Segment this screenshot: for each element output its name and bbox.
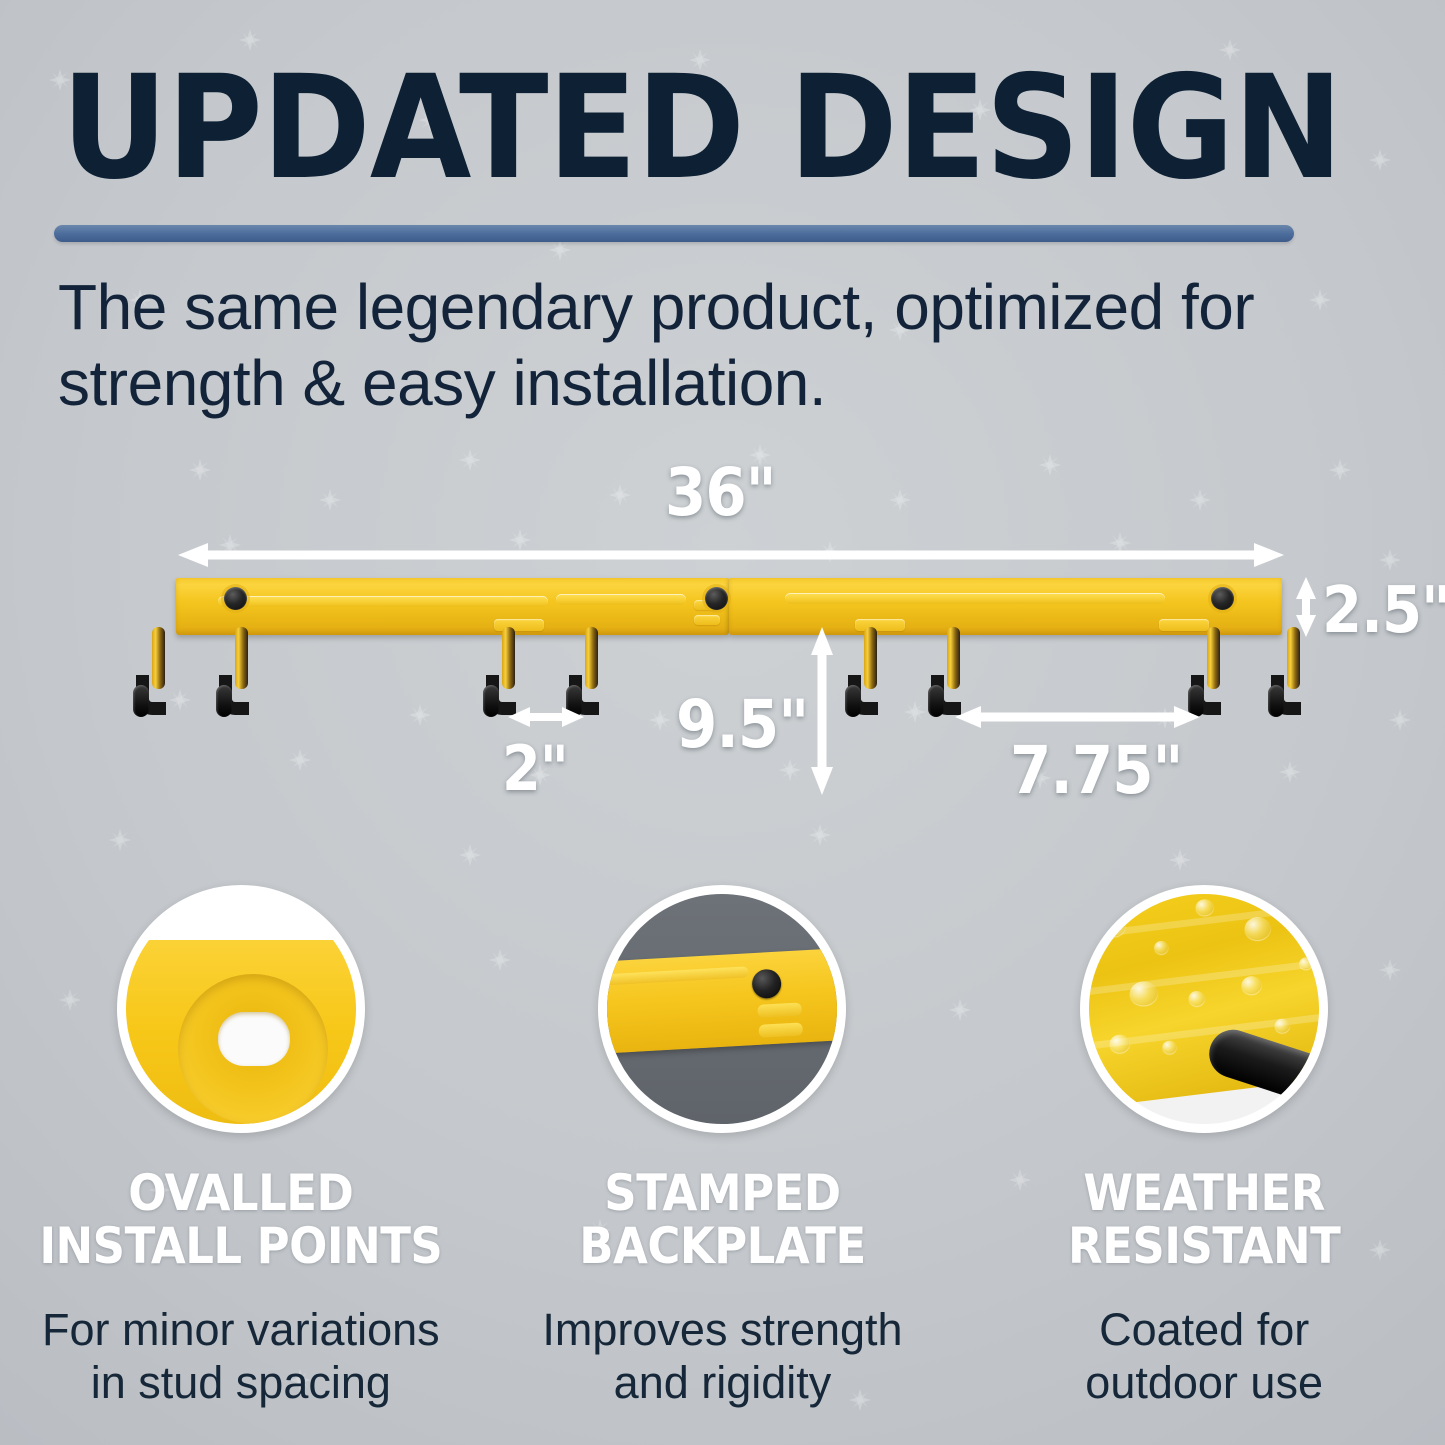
dimension-label-hook-drop: 9.5" [676,686,808,763]
hook-rubber-tip [845,685,861,717]
feature-desc-line-1: For minor variations [42,1303,440,1356]
water-drop [1299,957,1313,970]
backplate-stamp [758,1002,803,1017]
hook-rubber-tip [928,685,944,717]
feature-desc-line-1: Improves strength [542,1303,902,1356]
feature-title: WEATHER RESISTANT [1068,1167,1340,1273]
feature-desc-line-2: in stud spacing [42,1356,440,1409]
dimension-label-backplate-height: 2.5" [1322,574,1445,648]
feature-description: For minor variations in stud spacing [42,1303,440,1409]
accent-divider [54,225,1294,242]
backplate-stamp [759,1022,804,1037]
oval-slot-hole [218,1012,290,1066]
water-drop [1162,1040,1177,1055]
rack-hook [133,627,173,722]
dimension-arrow-backplate-height [1293,577,1319,637]
feature-title: OVALLED INSTALL POINTS [39,1167,442,1273]
page-title: UPDATED DESIGN [0,0,1445,199]
mounting-screw-left [224,587,247,610]
page-subtitle: The same legendary product, optimized fo… [58,270,1358,421]
feature-title-line-2: RESISTANT [1068,1220,1340,1273]
dimension-arrow-hook-group-spacing [955,704,1200,730]
rack-stamped-ridge [785,593,1165,604]
feature-title-line-1: STAMPED [579,1167,865,1220]
rack-hook [216,627,256,722]
hook-rubber-tip [1268,685,1284,717]
feature-title-line-1: WEATHER [1068,1167,1340,1220]
surface-stripe [1080,954,1328,998]
water-drop [1243,916,1272,942]
mounting-screw-center [705,587,728,610]
water-drop [1188,990,1206,1007]
hook-rubber-tip [133,685,149,717]
hook-rubber-tip [483,685,499,717]
dimension-label-hook-pair-spacing: 2" [502,732,568,805]
feature-description: Improves strength and rigidity [542,1303,902,1409]
feature-desc-line-2: and rigidity [542,1356,902,1409]
water-droplet-icon [1080,885,1328,1133]
product-diagram: 36" [0,432,1445,862]
rack-hook [1268,627,1308,722]
backplate-screw [752,969,783,1000]
ovalled-slot-icon [117,885,365,1133]
rack-stamp-dimple [694,615,720,625]
hook-rubber-tip [216,685,232,717]
backplate-bar [598,946,846,1055]
feature-desc-line-2: outdoor use [1085,1356,1323,1409]
feature-weather-resistant: WEATHER RESISTANT Coated for outdoor use [969,885,1439,1409]
rack-stamped-ridge [218,596,548,607]
feature-title: STAMPED BACKPLATE [579,1167,865,1273]
feature-ovalled-install-points: OVALLED INSTALL POINTS For minor variati… [6,885,476,1409]
feature-desc-line-1: Coated for [1085,1303,1323,1356]
feature-title-line-1: OVALLED [39,1167,442,1220]
dimension-arrow-overall-length [178,542,1284,568]
feature-list: OVALLED INSTALL POINTS For minor variati… [0,885,1445,1409]
mounting-screw-right [1211,587,1234,610]
water-drop [1080,966,1091,978]
rack-body [176,578,1282,635]
header: UPDATED DESIGN The same legendary produc… [0,0,1445,421]
dimension-label-overall-length: 36" [665,454,776,531]
stamped-plate-icon [598,885,846,1133]
water-drop [1154,940,1169,955]
rack-segment-left [176,578,729,635]
dimension-arrow-hook-pair-spacing [508,704,584,730]
dimension-label-hook-group-spacing: 7.75" [1010,732,1182,809]
rack-hook [845,627,885,722]
backplate-ridge [604,966,749,985]
feature-description: Coated for outdoor use [1085,1303,1323,1409]
feature-stamped-backplate: STAMPED BACKPLATE Improves strength and … [487,885,957,1409]
dimension-arrow-hook-drop [809,627,835,795]
rack-stamped-ridge [556,594,686,605]
feature-title-line-2: BACKPLATE [579,1220,865,1273]
feature-title-line-2: INSTALL POINTS [39,1220,442,1273]
water-drop [1241,975,1263,995]
water-drop [1195,898,1215,916]
